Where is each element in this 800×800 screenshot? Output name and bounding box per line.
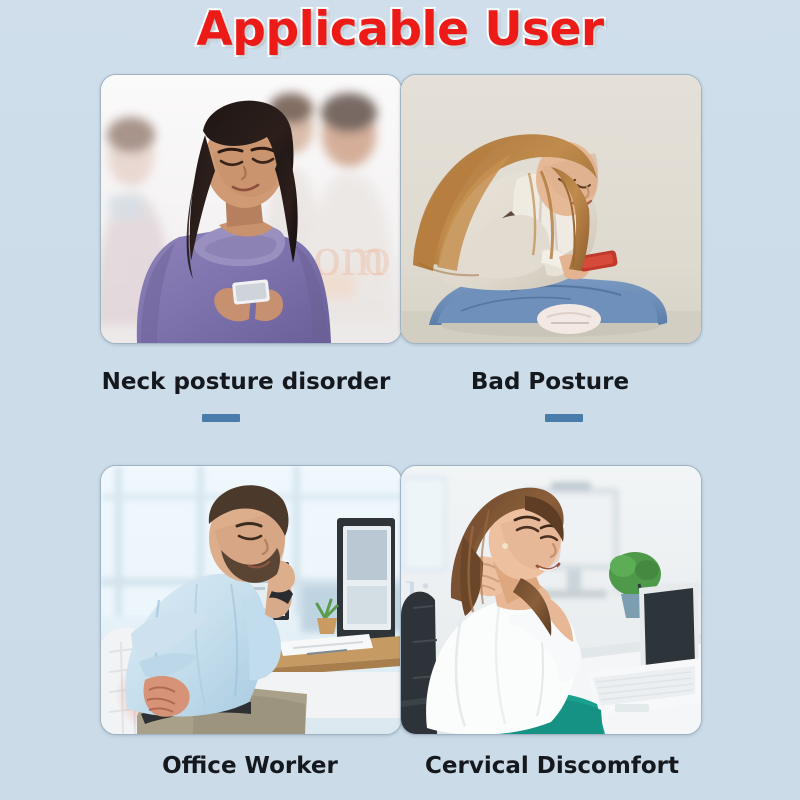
photo-woman-holding-neck-at-laptop: li — [401, 466, 701, 734]
caption-neck-posture-disorder: Neck posture disorder — [96, 369, 396, 395]
svg-text:o: o — [363, 226, 391, 288]
photo-man-with-back-pain-at-desk: o — [101, 466, 401, 734]
caption-cervical-discomfort: Cervical Discomfort — [402, 753, 702, 779]
photo-woman-hunched-over-phone — [401, 75, 701, 343]
image-card-bad-posture[interactable] — [400, 74, 702, 344]
photo-woman-on-phone-in-crowd: om o — [101, 75, 401, 343]
caption-bad-posture: Bad Posture — [400, 369, 700, 395]
image-card-neck-posture-disorder[interactable]: om o — [100, 74, 402, 344]
accent-bar-neck-posture-disorder — [202, 414, 240, 422]
image-card-office-worker[interactable]: o — [100, 465, 402, 735]
page-root: Applicable User — [0, 0, 800, 800]
caption-office-worker: Office Worker — [100, 753, 400, 779]
page-title: Applicable User — [196, 2, 603, 57]
image-card-cervical-discomfort[interactable]: li — [400, 465, 702, 735]
page-title-wrap: Applicable User — [0, 2, 800, 57]
accent-bar-bad-posture — [545, 414, 583, 422]
